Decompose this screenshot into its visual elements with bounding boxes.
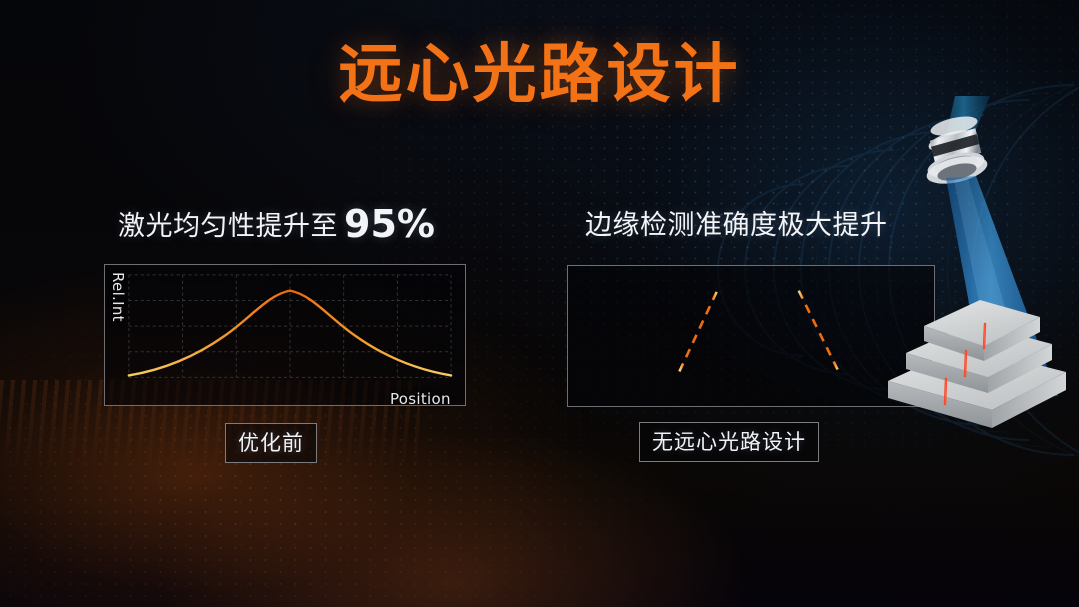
left-chart-y-axis-label: Rel.Int — [109, 272, 127, 322]
left-headline-value: 95% — [344, 202, 435, 246]
edge-response-curve — [620, 291, 898, 372]
left-headline: 激光均匀性提升至95% — [118, 202, 435, 246]
optics-illustration — [880, 96, 1079, 436]
stepped-block-icon — [888, 300, 1066, 428]
gaussian-curve — [129, 291, 451, 376]
slide-canvas: 远心光路设计 激光均匀性提升至95% 边缘检测准确度极大提升 — [0, 0, 1079, 607]
left-chart — [104, 264, 466, 406]
left-headline-text: 激光均匀性提升至 — [118, 211, 338, 242]
rising-edge-segment — [679, 291, 717, 372]
right-caption: 无远心光路设计 — [639, 422, 819, 462]
right-headline: 边缘检测准确度极大提升 — [585, 203, 888, 242]
left-chart-x-axis-label: Position — [390, 390, 451, 408]
falling-edge-segment — [799, 291, 839, 372]
left-caption: 优化前 — [225, 423, 317, 463]
